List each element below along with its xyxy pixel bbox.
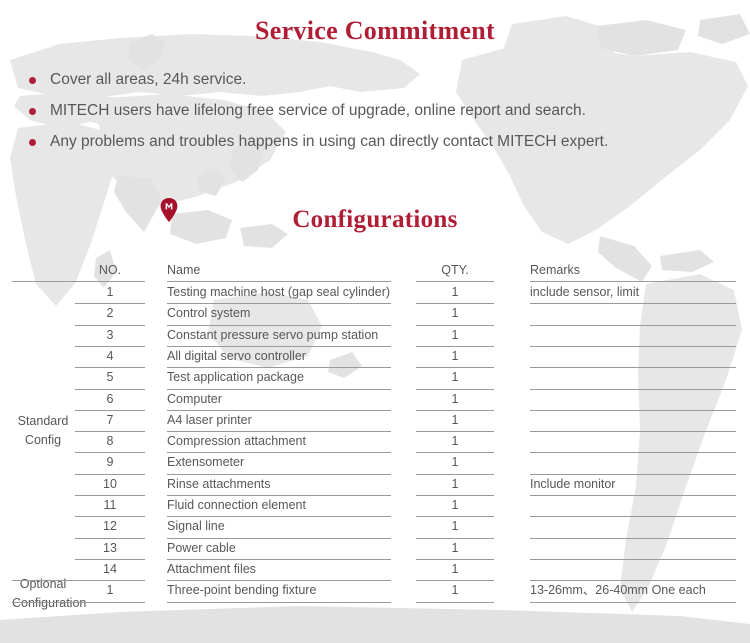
cell-name: Test application package	[167, 367, 392, 388]
table-row: 12Signal line1	[0, 516, 750, 537]
cell-remarks: 13-26mm、26-40mm One each	[530, 580, 735, 601]
cell-no: 8	[75, 431, 145, 452]
cell-qty: 1	[416, 389, 494, 410]
column-header-qty: QTY.	[416, 260, 494, 281]
table-row: 1Testing machine host (gap seal cylinder…	[0, 282, 750, 303]
cell-name: A4 laser printer	[167, 410, 392, 431]
cell-no: 5	[75, 367, 145, 388]
cell-no: 7	[75, 410, 145, 431]
cell-remarks	[530, 303, 735, 324]
cell-no: 10	[75, 474, 145, 495]
cell-name: Constant pressure servo pump station	[167, 325, 392, 346]
bullet-dot-icon	[29, 139, 36, 146]
cell-name: Power cable	[167, 538, 392, 559]
cell-name: Control system	[167, 303, 392, 324]
cell-name: All digital servo controller	[167, 346, 392, 367]
cell-name: Computer	[167, 389, 392, 410]
cell-no: 12	[75, 516, 145, 537]
cell-qty: 1	[416, 325, 494, 346]
rule-no	[12, 602, 145, 603]
cell-remarks: include sensor, limit	[530, 282, 735, 303]
table-row: 7A4 laser printer1	[0, 410, 750, 431]
table-row: 8Compression attachment1	[0, 431, 750, 452]
rule-name	[167, 602, 391, 603]
cell-no: 2	[75, 303, 145, 324]
configurations-table: NO. Name QTY. Remarks Standard Config Op…	[0, 260, 750, 643]
rule-remarks	[530, 602, 736, 603]
list-item-text: Cover all areas, 24h service.	[50, 71, 246, 88]
table-row: 6Computer1	[0, 389, 750, 410]
cell-no: 13	[75, 538, 145, 559]
cell-qty: 1	[416, 452, 494, 473]
cell-remarks	[530, 495, 735, 516]
cell-qty: 1	[416, 580, 494, 601]
service-commitment-list: Cover all areas, 24h service. MITECH use…	[24, 70, 724, 163]
service-commitment-title: Service Commitment	[0, 16, 750, 46]
cell-qty: 1	[416, 538, 494, 559]
cell-qty: 1	[416, 474, 494, 495]
table-row: 4All digital servo controller1	[0, 346, 750, 367]
table-row: 14Attachment files1	[0, 559, 750, 580]
cell-qty: 1	[416, 282, 494, 303]
cell-no: 1	[75, 282, 145, 303]
cell-name: Signal line	[167, 516, 392, 537]
bullet-dot-icon	[29, 108, 36, 115]
cell-remarks	[530, 367, 735, 388]
cell-name: Extensometer	[167, 452, 392, 473]
page-content: Service Commitment Cover all areas, 24h …	[0, 0, 750, 643]
cell-qty: 1	[416, 367, 494, 388]
cell-name: Testing machine host (gap seal cylinder)	[167, 282, 392, 303]
list-item: Cover all areas, 24h service.	[24, 70, 724, 90]
table-row: 9Extensometer1	[0, 452, 750, 473]
table-row: 11Fluid connection element1	[0, 495, 750, 516]
table-row: 3Constant pressure servo pump station1	[0, 325, 750, 346]
cell-remarks: Include monitor	[530, 474, 735, 495]
column-header-name: Name	[167, 260, 392, 281]
cell-no: 6	[75, 389, 145, 410]
table-row: 2Control system1	[0, 303, 750, 324]
list-item: MITECH users have lifelong free service …	[24, 101, 724, 121]
cell-remarks	[530, 538, 735, 559]
cell-no: 4	[75, 346, 145, 367]
cell-name: Attachment files	[167, 559, 392, 580]
cell-remarks	[530, 452, 735, 473]
cell-qty: 1	[416, 303, 494, 324]
cell-no: 1	[75, 580, 145, 601]
cell-remarks	[530, 346, 735, 367]
column-header-remarks: Remarks	[530, 260, 735, 281]
cell-qty: 1	[416, 495, 494, 516]
cell-qty: 1	[416, 410, 494, 431]
cell-name: Three-point bending fixture	[167, 580, 392, 601]
list-item-text: MITECH users have lifelong free service …	[50, 102, 586, 119]
cell-remarks	[530, 325, 735, 346]
cell-remarks	[530, 389, 735, 410]
bullet-dot-icon	[29, 77, 36, 84]
table-row: 5Test application package1	[0, 367, 750, 388]
column-header-no: NO.	[75, 260, 145, 281]
cell-remarks	[530, 516, 735, 537]
cell-remarks	[530, 410, 735, 431]
rule-qty	[416, 602, 494, 603]
table-row: 13Power cable1	[0, 538, 750, 559]
cell-name: Compression attachment	[167, 431, 392, 452]
cell-no: 9	[75, 452, 145, 473]
slide-page: Service Commitment Cover all areas, 24h …	[0, 0, 750, 643]
list-item: Any problems and troubles happens in usi…	[24, 132, 724, 152]
cell-name: Rinse attachments	[167, 474, 392, 495]
cell-qty: 1	[416, 559, 494, 580]
cell-qty: 1	[416, 516, 494, 537]
table-row: 1Three-point bending fixture113-26mm、26-…	[0, 580, 750, 601]
cell-remarks	[530, 431, 735, 452]
configurations-title: Configurations	[0, 206, 750, 234]
cell-name: Fluid connection element	[167, 495, 392, 516]
list-item-text: Any problems and troubles happens in usi…	[50, 133, 608, 150]
cell-qty: 1	[416, 346, 494, 367]
table-row: 10Rinse attachments1Include monitor	[0, 474, 750, 495]
table-header-row: NO. Name QTY. Remarks	[0, 260, 750, 281]
cell-no: 11	[75, 495, 145, 516]
cell-no: 3	[75, 325, 145, 346]
cell-qty: 1	[416, 431, 494, 452]
cell-remarks	[530, 559, 735, 580]
cell-no: 14	[75, 559, 145, 580]
